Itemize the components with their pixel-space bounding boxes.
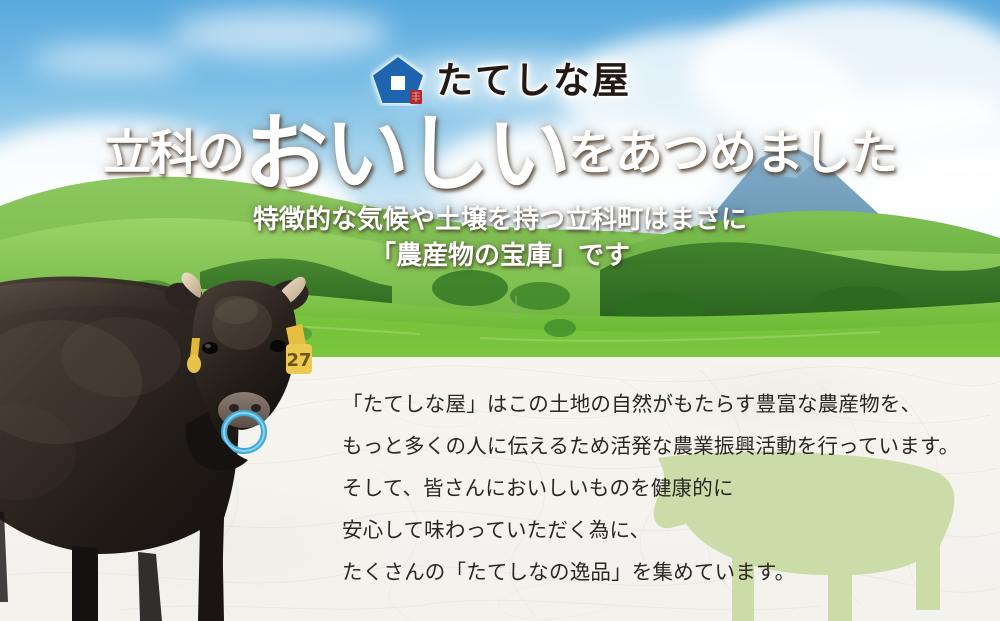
body-line-1: 「たてしな屋」はこの土地の自然がもたらす豊富な農産物を、 (342, 383, 992, 425)
ear-tag-right: 27 (286, 324, 312, 374)
brand-logo[interactable]: たてしな屋 (370, 52, 630, 108)
headline-part1: 立科の (103, 127, 244, 180)
body-line-4: 安心して味わっていただく為に、 (342, 509, 992, 551)
headline-emphasis: おいしい (244, 105, 568, 203)
black-wagyu-cow-photo: 27 (0, 262, 336, 621)
body-line-3: そして、皆さんにおいしいものを健康的に (342, 467, 992, 509)
cloud (170, 10, 390, 58)
red-seal-stamp (410, 90, 422, 104)
body-line-5: たくさんの「たてしなの逸品」を集めています。 (342, 551, 992, 593)
body-line-2: もっと多くの人に伝えるため活発な農業振興活動を行っています。 (342, 425, 992, 467)
headline: 立科のおいしいをあつめました (0, 112, 1000, 196)
brand-logo-text: たてしな屋 (436, 62, 631, 99)
ear-tag-number: 27 (286, 350, 311, 371)
house-pentagon-logo-icon (370, 54, 426, 106)
promo-banner: たてしな屋 立科のおいしいをあつめました 特徴的な気候や土壌を持つ立科町はまさに… (0, 0, 1000, 621)
subtitle-line-1: 特徴的な気候や土壌を持つ立科町はまさに (0, 202, 1000, 238)
headline-part2: をあつめました (568, 127, 897, 180)
body-copy: 「たてしな屋」はこの土地の自然がもたらす豊富な農産物を、 もっと多くの人に伝える… (342, 383, 992, 593)
cloud (30, 45, 190, 75)
